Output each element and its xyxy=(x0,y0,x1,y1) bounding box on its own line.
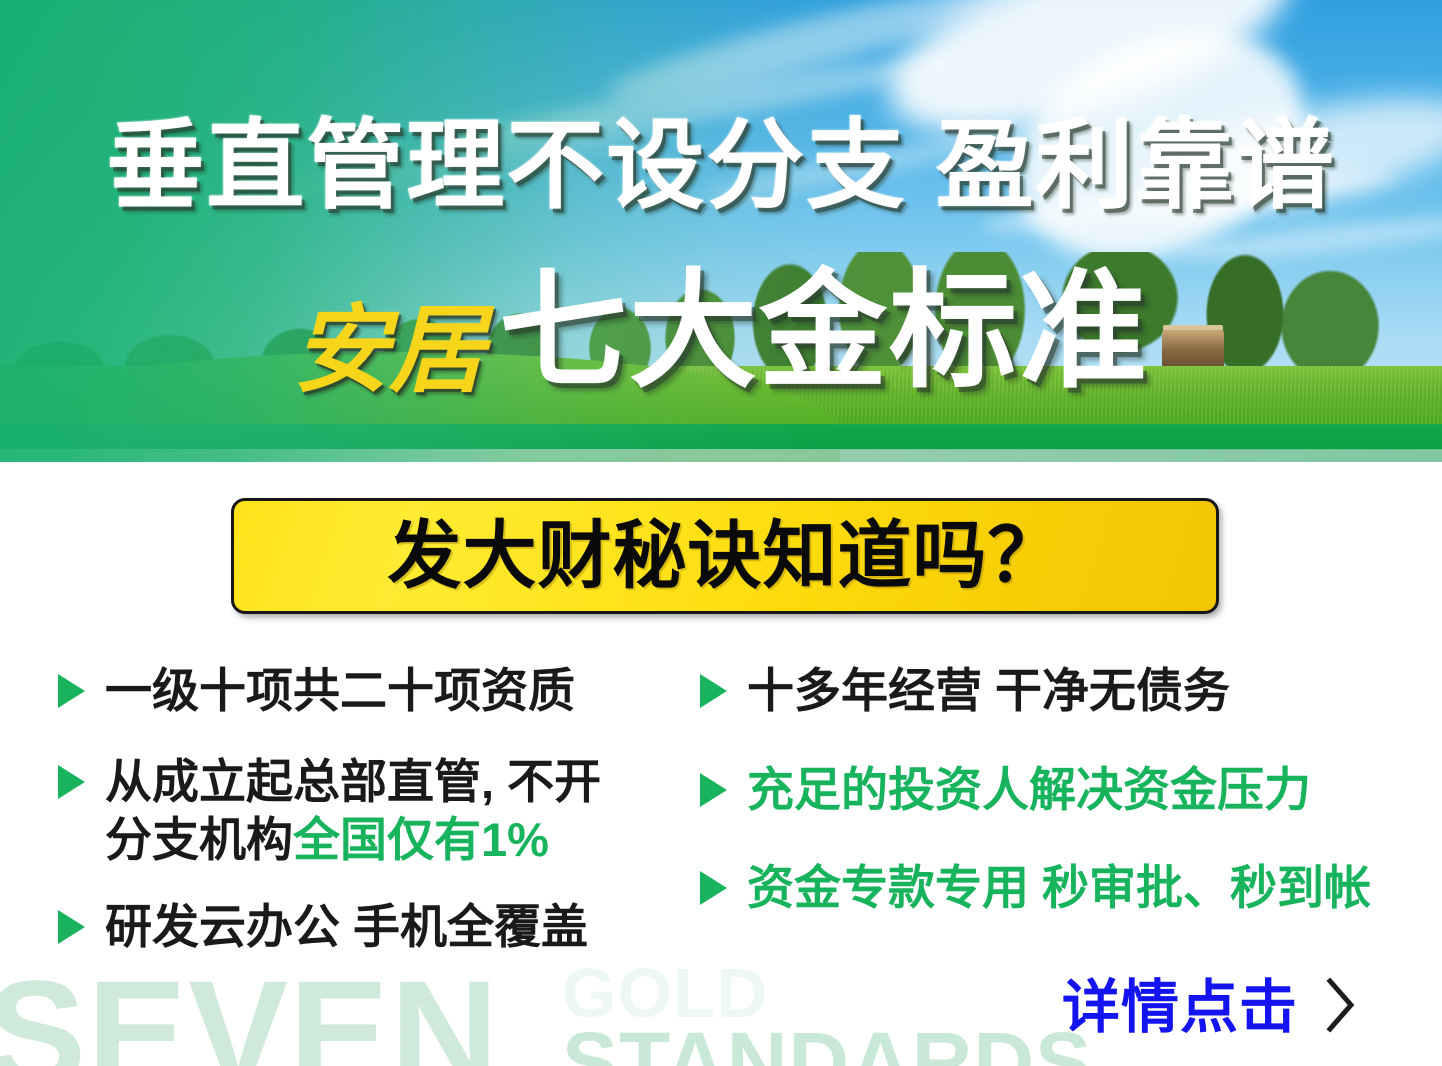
bullet-text: 从成立起总部直管, 不开 分支机构全国仅有1% xyxy=(105,753,601,868)
feature-bullets-section: 一级十项共二十项资质 从成立起总部直管, 不开 分支机构全国仅有1% 研发云办公… xyxy=(0,662,1442,982)
bullet-line: 充足的投资人解决资金压力 xyxy=(747,763,1311,816)
promo-banner-ad: 垂直管理不设分支 盈利靠谱 安居七大金标准 发大财秘诀知道吗？ 一级十项共二十项… xyxy=(0,0,1442,1066)
bullet-line: 研发云办公 手机全覆盖 xyxy=(105,900,588,953)
details-cta-link[interactable]: 详情点击 xyxy=(1062,976,1358,1039)
triangle-right-icon xyxy=(700,773,727,807)
details-cta-label: 详情点击 xyxy=(1062,979,1298,1037)
triangle-right-icon xyxy=(700,674,727,708)
triangle-right-icon xyxy=(700,871,727,905)
hero-image-section: 垂直管理不设分支 盈利靠谱 安居七大金标准 xyxy=(0,0,1442,462)
bullet-item-qualifications: 一级十项共二十项资质 xyxy=(58,662,688,719)
bullet-text: 研发云办公 手机全覆盖 xyxy=(105,898,588,955)
watermark-word-standards: STANDARDS xyxy=(562,1020,1092,1066)
bullet-line: 一级十项共二十项资质 xyxy=(105,664,575,717)
bullet-item-years-operating: 十多年经营 干净无债务 xyxy=(700,662,1420,719)
bullet-item-investors: 充足的投资人解决资金压力 xyxy=(700,761,1420,818)
hero-headline-primary: 垂直管理不设分支 盈利靠谱 xyxy=(0,116,1442,214)
bullet-line: 资金专款专用 秒审批、秒到帐 xyxy=(747,861,1371,914)
hero-text-group: 垂直管理不设分支 盈利靠谱 安居七大金标准 xyxy=(0,0,1442,462)
highlight-question-text: 发大财秘诀知道吗？ xyxy=(388,519,1063,593)
bullet-column-right: 十多年经营 干净无债务 充足的投资人解决资金压力 资金专款专用 秒审批、秒到帐 xyxy=(700,662,1420,942)
brand-name-anju: 安居 xyxy=(293,293,485,406)
bullet-line: 分支机构 xyxy=(105,813,293,866)
bullet-line: 从成立起总部直管, 不开 xyxy=(105,755,601,808)
bullet-text: 一级十项共二十项资质 xyxy=(105,662,575,719)
triangle-right-icon xyxy=(58,765,85,799)
bullet-line: 十多年经营 干净无债务 xyxy=(747,664,1230,717)
bullet-item-headquarters-direct: 从成立起总部直管, 不开 分支机构全国仅有1% xyxy=(58,753,688,868)
hero-headline-seven-gold-standards: 七大金标准 xyxy=(499,260,1149,403)
bullet-text: 十多年经营 干净无债务 xyxy=(747,662,1230,719)
bullet-column-left: 一级十项共二十项资质 从成立起总部直管, 不开 分支机构全国仅有1% 研发云办公… xyxy=(58,662,688,981)
bullet-item-dedicated-funds: 资金专款专用 秒审批、秒到帐 xyxy=(700,859,1420,916)
bullet-item-cloud-office: 研发云办公 手机全覆盖 xyxy=(58,898,688,955)
highlight-question-banner[interactable]: 发大财秘诀知道吗？ xyxy=(231,498,1219,614)
bullet-text: 资金专款专用 秒审批、秒到帐 xyxy=(747,859,1371,916)
chevron-right-icon xyxy=(1324,976,1358,1039)
triangle-right-icon xyxy=(58,674,85,708)
triangle-right-icon xyxy=(58,910,85,944)
bullet-text: 充足的投资人解决资金压力 xyxy=(747,761,1311,818)
bullet-highlight: 全国仅有1% xyxy=(293,813,549,866)
hero-headline-secondary: 安居七大金标准 xyxy=(0,268,1442,398)
